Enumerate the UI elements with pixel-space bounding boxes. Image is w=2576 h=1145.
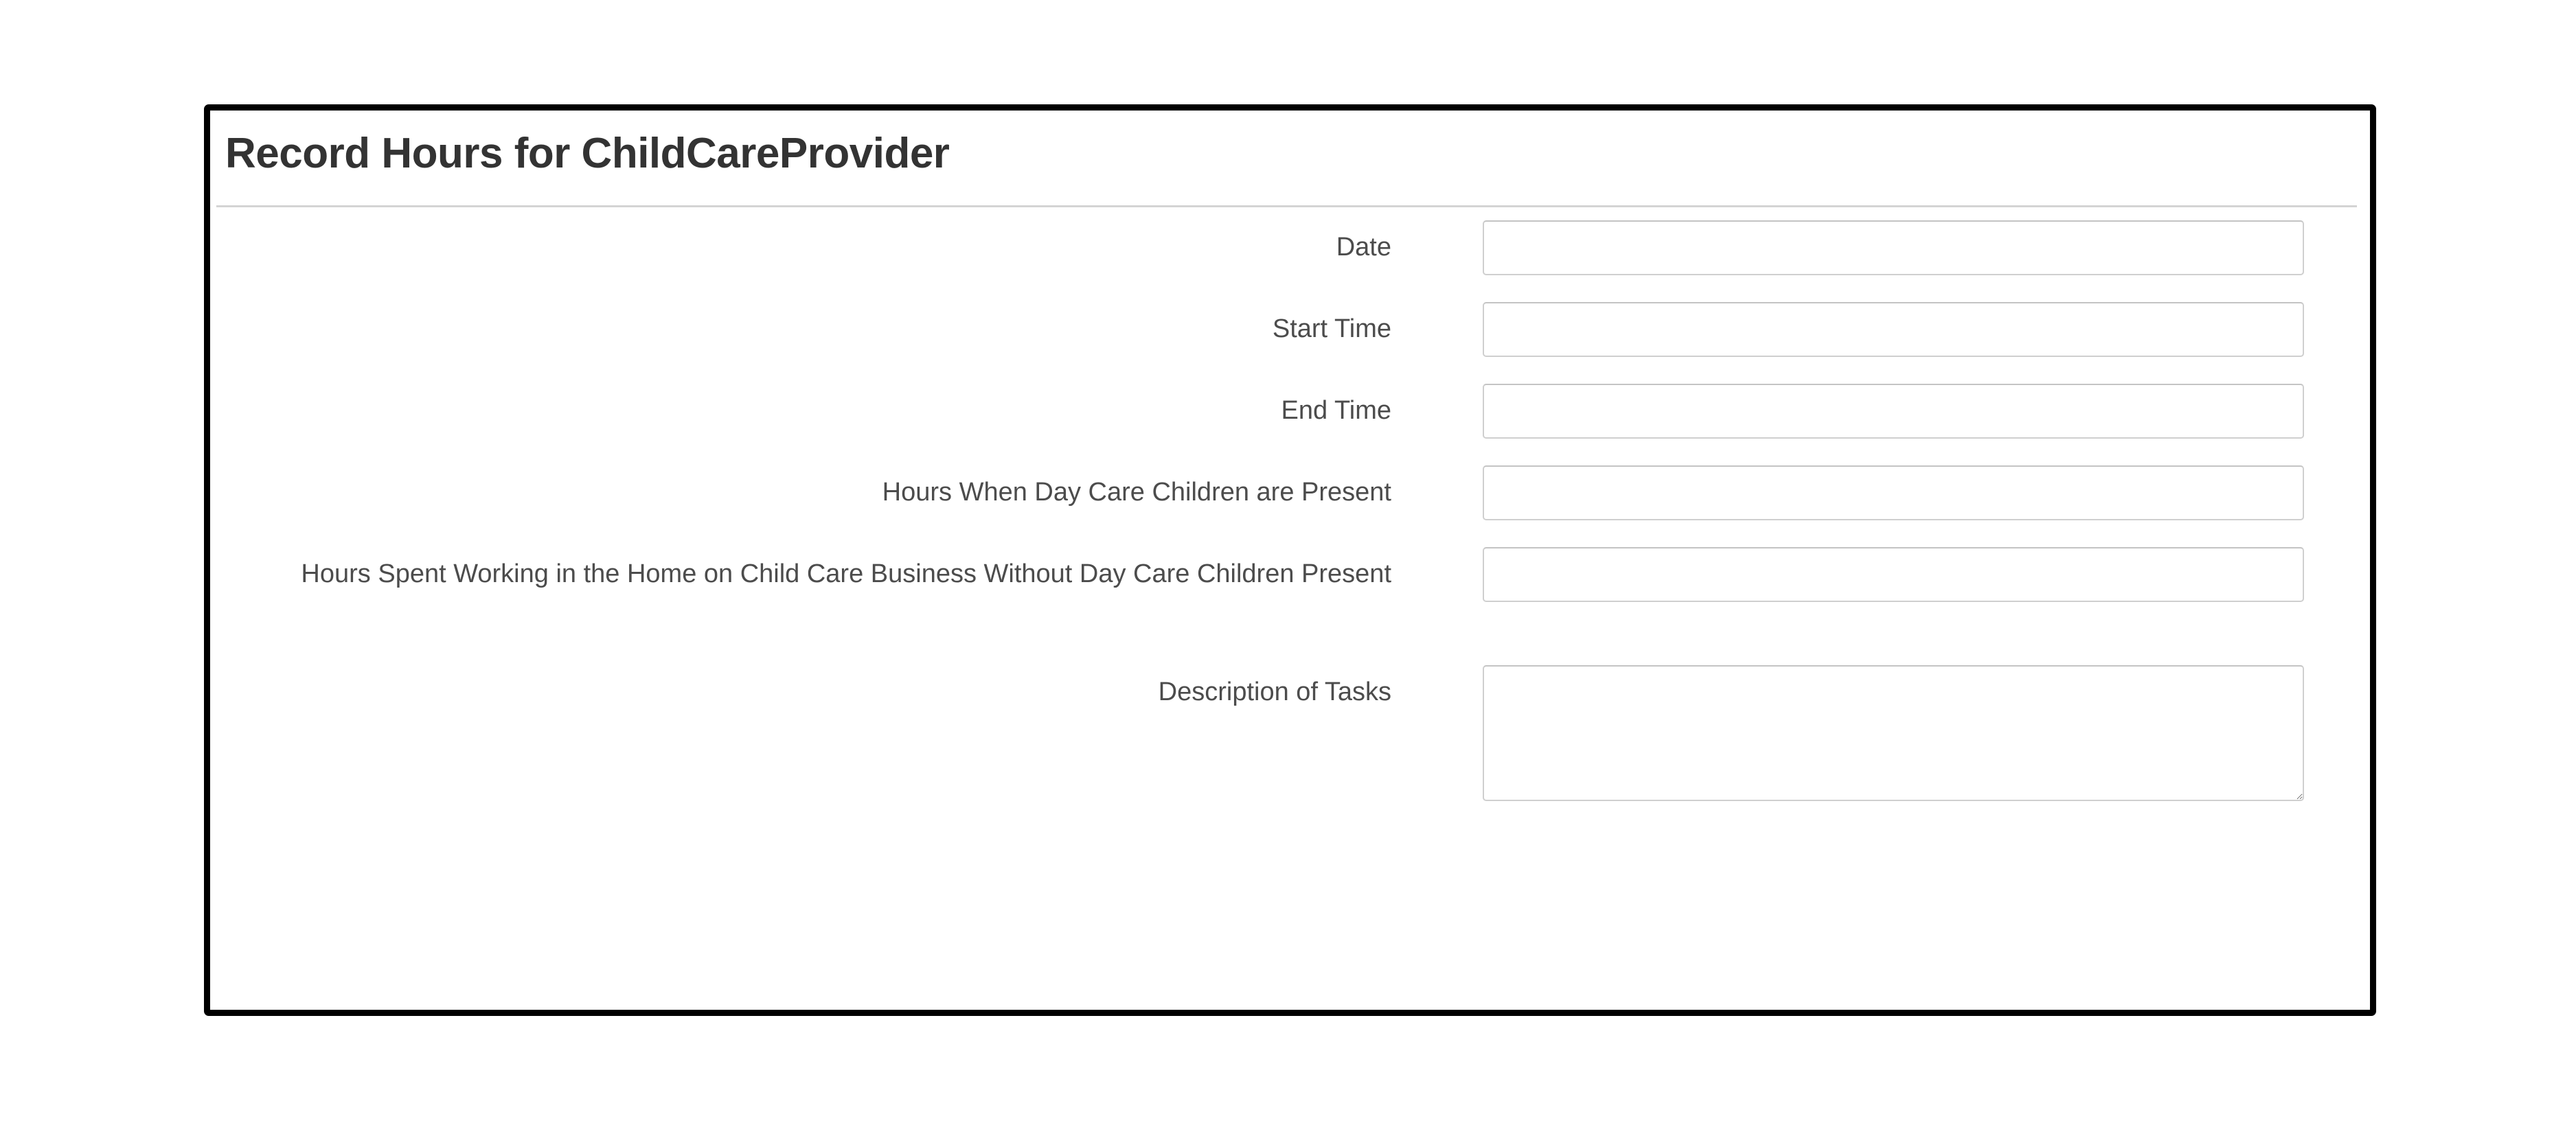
end-time-input[interactable] <box>1483 384 2304 439</box>
field-control-hours-without-children <box>1483 547 2304 602</box>
title-divider <box>216 205 2357 207</box>
hours-children-present-input[interactable] <box>1483 465 2304 520</box>
page-title: Record Hours for ChildCareProvider <box>225 132 949 175</box>
record-hours-card: Record Hours for ChildCareProvider Date … <box>204 104 2376 1016</box>
record-hours-form: Date Start Time End Time <box>210 220 2370 1010</box>
label-start-time: Start Time <box>272 310 1391 348</box>
start-time-input[interactable] <box>1483 302 2304 357</box>
page-root: Record Hours for ChildCareProvider Date … <box>0 0 2576 1145</box>
hours-without-children-input[interactable] <box>1483 547 2304 602</box>
label-hours-children-present: Hours When Day Care Children are Present <box>272 474 1391 511</box>
date-input[interactable] <box>1483 220 2304 275</box>
field-control-end-time <box>1483 384 2304 439</box>
field-control-hours-children-present <box>1483 465 2304 520</box>
description-of-tasks-textarea[interactable] <box>1483 665 2304 801</box>
label-end-time: End Time <box>272 392 1391 430</box>
field-control-description-of-tasks <box>1483 665 2304 801</box>
field-control-start-time <box>1483 302 2304 357</box>
card-header: Record Hours for ChildCareProvider <box>210 111 2370 220</box>
field-control-date <box>1483 220 2304 275</box>
label-description-of-tasks: Description of Tasks <box>272 673 1391 711</box>
label-hours-without-children: Hours Spent Working in the Home on Child… <box>272 555 1391 593</box>
label-date: Date <box>272 229 1391 266</box>
